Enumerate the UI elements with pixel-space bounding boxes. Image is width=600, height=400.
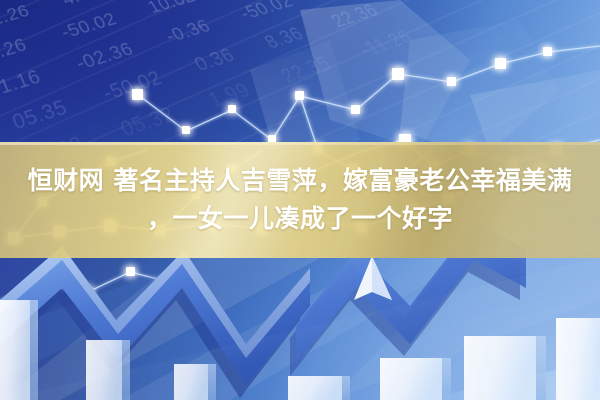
gold-text-band [0,142,600,258]
gold-band-top-edge [0,142,600,145]
banner-image: -06.35 21.36 -05.35 -11.26 -02.32 22.36 … [0,0,600,400]
